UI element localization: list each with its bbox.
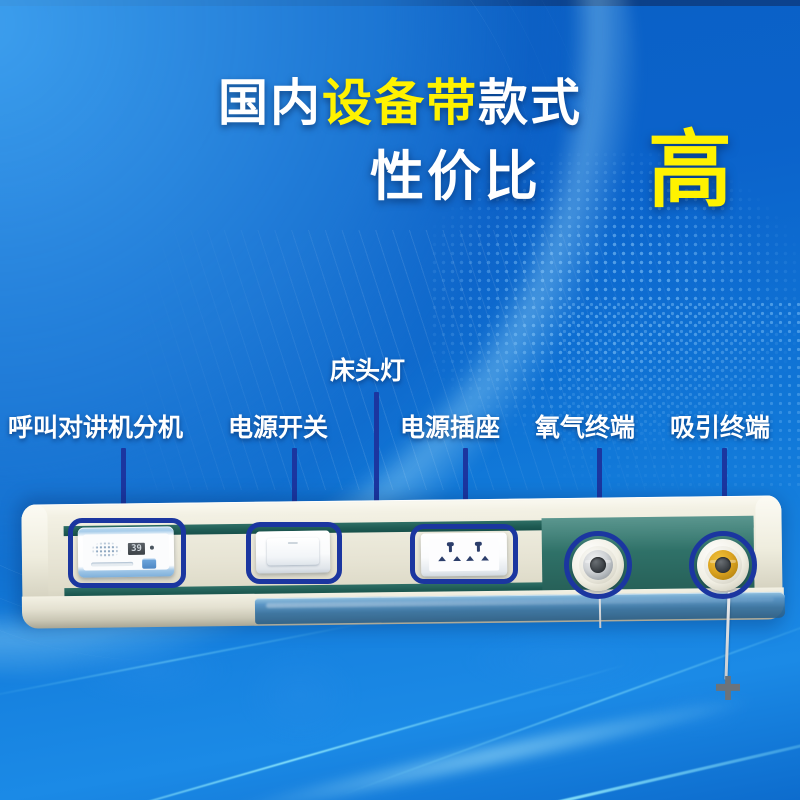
- highlight-box-power-socket: [410, 524, 518, 584]
- diagonal-pinstripes: [140, 230, 760, 490]
- headline-value-text: 性价比: [370, 150, 541, 204]
- callout-label-intercom: 呼叫对讲机分机: [8, 415, 183, 440]
- callout-label-power-socket: 电源插座: [400, 415, 500, 440]
- highlight-circle-oxygen-outlet: [564, 531, 632, 599]
- headline-block: 国内设备带款式 性价比 高: [0, 78, 800, 224]
- product-banner: 国内设备带款式 性价比 高 呼叫对讲机分机 电源开关 床头灯 电源插座 氧气终端…: [0, 0, 800, 800]
- headline-highlight: 设备带: [322, 74, 478, 132]
- highlight-circle-suction-outlet: [689, 531, 757, 599]
- headline-suffix: 款式: [478, 74, 582, 132]
- highlight-box-intercom: [68, 518, 186, 588]
- callout-label-suction-outlet: 吸引终端: [670, 415, 770, 440]
- highlight-box-power-switch: [246, 522, 342, 584]
- callout-label-bed-lamp: 床头灯: [330, 358, 405, 383]
- headline-emphasis-char: 高: [648, 128, 732, 212]
- headline-prefix: 国内: [218, 74, 322, 132]
- callout-label-oxygen-outlet: 氧气终端: [535, 415, 635, 440]
- headline-line-2: 性价比 高: [0, 150, 800, 224]
- callout-label-power-switch: 电源开关: [228, 415, 328, 440]
